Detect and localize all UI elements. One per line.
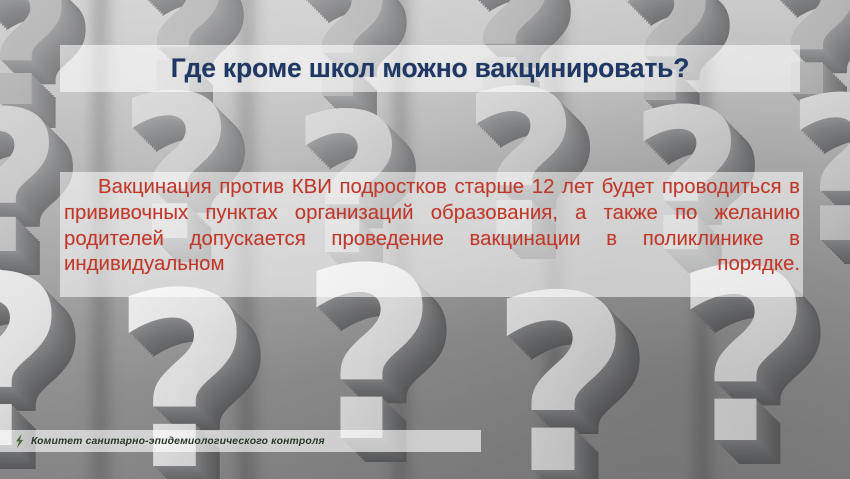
presentation-slide: ? ? ? ? ? ? ? ? ? ? ? ? ? ? ? ? [0, 0, 850, 479]
footer-banner: Комитет санитарно-эпидемиологического ко… [0, 430, 481, 452]
slide-title: Где кроме школ можно вакцинировать? [171, 53, 689, 84]
slide-body-paragraph: Вакцинация против КВИ подростков старше … [64, 175, 800, 304]
footer-organization-label: Комитет санитарно-эпидемиологического ко… [31, 436, 325, 447]
title-banner: Где кроме школ можно вакцинировать? [60, 45, 800, 92]
lightning-bolt-icon [14, 434, 25, 448]
